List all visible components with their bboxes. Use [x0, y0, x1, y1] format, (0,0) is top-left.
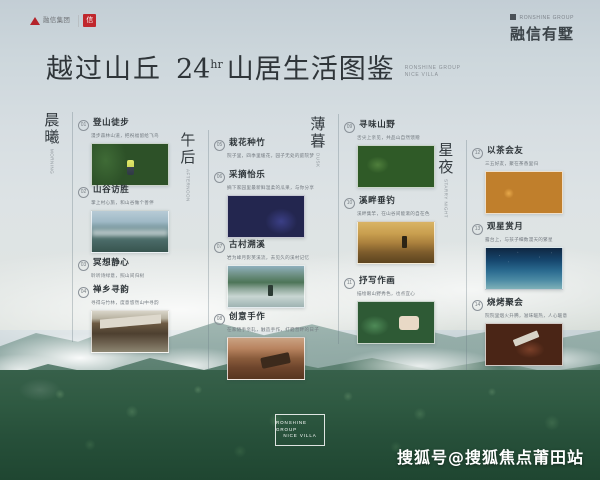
headline-part-1: 越过山丘 — [46, 56, 162, 83]
item-header: 01 登山徒步 — [78, 118, 170, 131]
list-item[interactable]: 14 烧烤聚会 院院里烟火升腾，滋味暖热，人心暖意 — [472, 298, 564, 366]
brand-badge-icon: 信 — [83, 14, 96, 27]
column-rule-2 — [208, 130, 209, 370]
item-thumbnail[interactable] — [357, 221, 435, 264]
step-number-icon: 03 — [78, 260, 89, 271]
list-item[interactable]: 03 冥想静心 聆听诗绿意，照山间归树 — [78, 258, 170, 278]
item-header: 10 溪畔垂钓 — [344, 196, 436, 209]
item-header: 06 采摘怡乐 — [214, 170, 306, 183]
logo-divider — [78, 15, 79, 27]
item-description: 摘下家园里最新鲜温柔的瓜果，与你分享 — [227, 185, 306, 191]
square-logo-icon — [510, 14, 516, 20]
item-header: 07 古村溯溪 — [214, 240, 306, 253]
item-title: 冥想静心 — [93, 258, 129, 268]
item-thumbnail[interactable] — [485, 323, 563, 366]
step-number-icon: 10 — [344, 198, 355, 209]
item-title: 古村溯溪 — [229, 240, 265, 250]
brand-logo-top-left: 融信集团 信 — [26, 14, 96, 27]
column-title-4: 星夜 — [436, 142, 455, 176]
headline-part-2: 山居生活图鉴 — [227, 56, 395, 83]
column-rule-1 — [72, 112, 73, 342]
item-thumbnail[interactable] — [357, 301, 435, 344]
brand-logo-footer: RONSHINE GROUP NICE VILLA — [275, 414, 325, 446]
ronshine-mark: 融信集团 — [26, 15, 74, 27]
list-item[interactable]: 02 山谷访胜 掌上村心旅，和山谷做个善伴 — [78, 185, 170, 253]
item-description: 露台上，与孩子细数漫天的繁星 — [485, 237, 564, 243]
item-thumbnail[interactable] — [227, 195, 305, 238]
item-title: 山谷访胜 — [93, 185, 129, 195]
triangle-logo-icon — [30, 17, 40, 25]
step-number-icon: 11 — [344, 278, 355, 289]
list-item[interactable]: 07 古村溯溪 岩为峰月影芙溪流，去见久的溪村记忆 — [214, 240, 306, 308]
item-thumbnail[interactable] — [485, 171, 563, 214]
item-header: 03 冥想静心 — [78, 258, 170, 271]
brand-logo-top-right: RONSHINE GROUP 融信有墅 — [510, 14, 574, 44]
item-thumbnail[interactable] — [357, 145, 435, 188]
column-header-2: 午后 AFTERNOON — [174, 132, 200, 202]
poster-canvas: 融信集团 信 RONSHINE GROUP 融信有墅 越过山丘 24hr 山居生… — [0, 0, 600, 480]
item-title: 栽花种竹 — [229, 138, 265, 148]
item-description: 岩为峰月影芙溪流，去见久的溪村记忆 — [227, 255, 306, 261]
column-subtitle-4: STARRY NIGHT — [443, 179, 448, 218]
item-thumbnail[interactable] — [485, 247, 563, 290]
brand-name-left: 融信集团 — [43, 17, 70, 24]
item-title: 观星赏月 — [487, 222, 523, 232]
list-item[interactable]: 13 观星赏月 露台上，与孩子细数漫天的繁星 — [472, 222, 564, 290]
column-subtitle-3: DUSK — [315, 153, 320, 168]
footer-brand-line-1: RONSHINE GROUP — [276, 420, 324, 434]
list-item[interactable]: 08 创意手作 在家随手亲轧，触造手作，打磨营畔的日子 — [214, 312, 306, 380]
column-rule-3 — [338, 114, 339, 344]
item-header: 13 观星赏月 — [472, 222, 564, 235]
item-thumbnail[interactable] — [227, 265, 305, 308]
step-number-icon: 01 — [78, 120, 89, 131]
item-title: 寻味山野 — [359, 120, 395, 130]
step-number-icon: 04 — [78, 287, 89, 298]
step-number-icon: 08 — [214, 314, 225, 325]
step-number-icon: 09 — [344, 122, 355, 133]
item-header: 11 抒写作画 — [344, 276, 436, 289]
step-number-icon: 06 — [214, 172, 225, 183]
item-description: 聆听诗绿意，照山间归树 — [91, 273, 170, 279]
item-header: 12 以茶会友 — [472, 146, 564, 159]
step-number-icon: 13 — [472, 224, 483, 235]
item-title: 采摘怡乐 — [229, 170, 265, 180]
item-title: 烧烤聚会 — [487, 298, 523, 308]
list-item[interactable]: 11 抒写作画 描绘眼山野秀色，也点宜心 — [344, 276, 436, 344]
item-title: 创意手作 — [229, 312, 265, 322]
item-header: 08 创意手作 — [214, 312, 306, 325]
item-title: 登山徒步 — [93, 118, 129, 128]
column-rule-4 — [466, 140, 467, 370]
list-item[interactable]: 10 溪畔垂钓 溪畔集竿，在山谷间能漱的自在色 — [344, 196, 436, 264]
item-title: 禅乡寻韵 — [93, 285, 129, 295]
headline-english: RONSHINE GROUPNICE VILLA — [405, 65, 461, 84]
step-number-icon: 05 — [214, 140, 225, 151]
list-item[interactable]: 12 以茶会友 三五好友，聚在茶香里归 — [472, 146, 564, 214]
column-title-3: 薄暮 — [308, 116, 327, 150]
step-number-icon: 07 — [214, 242, 225, 253]
brand-en-top-right: RONSHINE GROUP — [510, 14, 574, 22]
list-item[interactable]: 06 采摘怡乐 摘下家园里最新鲜温柔的瓜果，与你分享 — [214, 170, 306, 238]
headline-number: 24hr — [176, 56, 223, 83]
brand-cn-top-right: 融信有墅 — [510, 23, 574, 44]
item-description: 舌尖上亲见，共品山自然馈赠 — [357, 135, 436, 141]
item-description: 三五好友，聚在茶香里归 — [485, 161, 564, 167]
item-description: 描绘眼山野秀色，也点宜心 — [357, 291, 436, 297]
item-title: 以茶会友 — [487, 146, 523, 156]
step-number-icon: 02 — [78, 187, 89, 198]
step-number-icon: 12 — [472, 148, 483, 159]
item-thumbnail[interactable] — [91, 210, 169, 253]
item-header: 04 禅乡寻韵 — [78, 285, 170, 298]
list-item[interactable]: 01 登山徒步 漫步森林山道，把祝福留给飞鸟 — [78, 118, 170, 186]
item-description: 寻得与竹林，度意悠然山中寻韵 — [91, 300, 170, 306]
item-description: 漫步森林山道，把祝福留给飞鸟 — [91, 133, 170, 139]
item-thumbnail[interactable] — [91, 310, 169, 353]
step-number-icon: 14 — [472, 300, 483, 311]
column-header-3: 薄暮 DUSK — [304, 116, 330, 168]
footer-brand-line-2: NICE VILLA — [283, 433, 316, 440]
item-title: 溪畔垂钓 — [359, 196, 395, 206]
headline-unit: hr — [210, 58, 222, 71]
item-description: 在家随手亲轧，触造手作，打磨营畔的日子 — [227, 327, 306, 333]
list-item[interactable]: 04 禅乡寻韵 寻得与竹林，度意悠然山中寻韵 — [78, 285, 170, 353]
list-item[interactable]: 05 栽花种竹 院子里，四季里缓花，园子无处的庭院梦 — [214, 138, 306, 158]
item-description: 掌上村心旅，和山谷做个善伴 — [91, 200, 170, 206]
column-title-2: 午后 — [178, 132, 197, 166]
item-thumbnail[interactable] — [91, 143, 169, 186]
item-thumbnail[interactable] — [227, 337, 305, 380]
column-title-1: 晨曦 — [42, 112, 61, 146]
column-header-1: 晨曦 MORNING — [38, 112, 64, 174]
page-title: 越过山丘 24hr 山居生活图鉴 RONSHINE GROUPNICE VILL… — [46, 56, 461, 83]
item-title: 抒写作画 — [359, 276, 395, 286]
item-header: 09 寻味山野 — [344, 120, 436, 133]
column-subtitle-1: MORNING — [49, 149, 54, 174]
item-header: 14 烧烤聚会 — [472, 298, 564, 311]
watermark: 搜狐号@搜狐焦点莆田站 — [397, 444, 584, 468]
item-header: 05 栽花种竹 — [214, 138, 306, 151]
item-description: 院子里，四季里缓花，园子无处的庭院梦 — [227, 153, 306, 159]
list-item[interactable]: 09 寻味山野 舌尖上亲见，共品山自然馈赠 — [344, 120, 436, 188]
column-header-4: 星夜 STARRY NIGHT — [432, 142, 458, 218]
item-header: 02 山谷访胜 — [78, 185, 170, 198]
item-description: 溪畔集竿，在山谷间能漱的自在色 — [357, 211, 436, 217]
item-description: 院院里烟火升腾，滋味暖热，人心暖意 — [485, 313, 564, 319]
column-subtitle-2: AFTERNOON — [185, 169, 190, 202]
